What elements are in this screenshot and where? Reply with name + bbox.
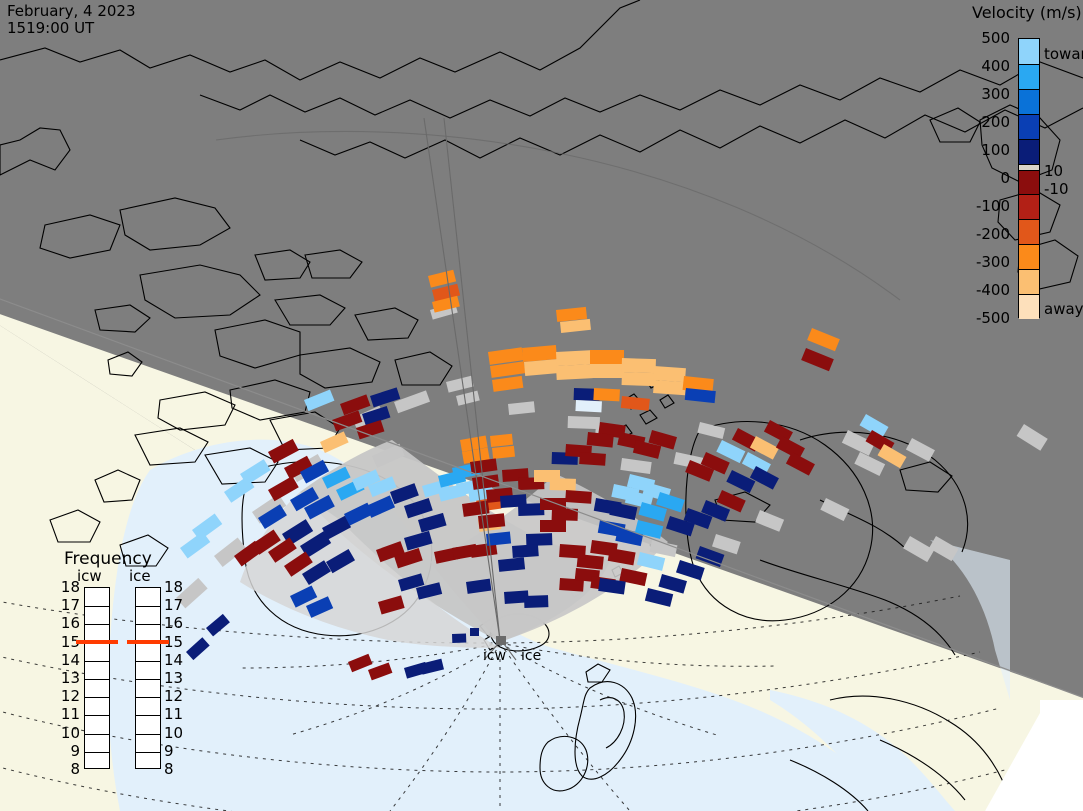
frequency-scale-label: 9 — [164, 742, 188, 760]
frequency-scale-cell — [85, 715, 109, 733]
frequency-scale-cell — [85, 752, 109, 770]
colorbar-tick-label: 300 — [948, 85, 1010, 103]
colorbar-tick-label: 200 — [948, 113, 1010, 131]
colorbar-tick-label: 400 — [948, 57, 1010, 75]
frequency-scale-cell — [85, 606, 109, 624]
colorbar-tick-label: -300 — [948, 253, 1010, 271]
frequency-scale-label: 11 — [164, 705, 188, 723]
frequency-scale-label: 8 — [164, 760, 188, 778]
frequency-scale-label: 16 — [164, 614, 188, 632]
colorbar-away-label: away — [1044, 300, 1083, 318]
frequency-scale-label: 14 — [56, 651, 80, 669]
colorbar-swatch — [1019, 269, 1039, 294]
frequency-scale-label: 8 — [56, 760, 80, 778]
frequency-scale-label: 16 — [56, 614, 80, 632]
colorbar-tick-label: -200 — [948, 225, 1010, 243]
frequency-legend-ice-title: ice — [129, 568, 151, 584]
colorbar-title: Velocity (m/s) — [972, 5, 1082, 21]
frequency-scale-label: 10 — [56, 724, 80, 742]
frequency-scale-label: 18 — [56, 578, 80, 596]
frequency-scale-cell — [85, 643, 109, 661]
frequency-scale-cell — [136, 697, 160, 715]
frequency-scale-cell — [136, 643, 160, 661]
colorbar-swatch — [1019, 139, 1039, 164]
frequency-scale-cell — [136, 752, 160, 770]
timestamp-label: February, 4 2023 1519:00 UT — [7, 3, 136, 37]
colorbar-swatch — [1019, 194, 1039, 219]
colorbar-gs-upper-label: 10 — [1044, 162, 1063, 180]
frequency-scale-cell — [85, 679, 109, 697]
frequency-scale-cell — [136, 679, 160, 697]
frequency-scale-ice[interactable] — [135, 587, 161, 769]
frequency-scale-label: 14 — [164, 651, 188, 669]
colorbar-tick-label: 0 — [948, 169, 1010, 187]
frequency-scale-cell — [85, 588, 109, 606]
colorbar-swatch — [1019, 170, 1039, 195]
frequency-scale-label: 11 — [56, 705, 80, 723]
frequency-scale-icw[interactable] — [84, 587, 110, 769]
frequency-scale-label: 13 — [56, 669, 80, 687]
frequency-scale-label: 17 — [56, 596, 80, 614]
colorbar-tick-label: 500 — [948, 29, 1010, 47]
colorbar-gs-lower-label: -10 — [1044, 180, 1069, 198]
frequency-legend-icw-title: icw — [77, 568, 102, 584]
map-panel[interactable]: February, 4 2023 1519:00 UT icw ice — [0, 0, 1083, 811]
frequency-scale-cell — [85, 697, 109, 715]
frequency-scale-cell — [136, 734, 160, 752]
frequency-scale-label: 18 — [164, 578, 188, 596]
colorbar-swatch — [1019, 64, 1039, 89]
colorbar-swatch — [1019, 294, 1039, 319]
colorbar-toward-label: toward — [1044, 45, 1083, 63]
frequency-scale-label: 13 — [164, 669, 188, 687]
frequency-scale-cell — [136, 606, 160, 624]
frequency-scale-cell — [136, 661, 160, 679]
colorbar-swatch — [1019, 114, 1039, 139]
frequency-scale-cell — [136, 715, 160, 733]
colorbar-swatch — [1019, 219, 1039, 244]
colorbar-tick-label: 100 — [948, 141, 1010, 159]
frequency-scale-label: 17 — [164, 596, 188, 614]
frequency-scale-label: 10 — [164, 724, 188, 742]
frequency-scale-label: 9 — [56, 742, 80, 760]
frequency-scale-cell — [85, 661, 109, 679]
frequency-marker — [127, 640, 169, 644]
colorbar-swatch — [1019, 244, 1039, 269]
station-label-ice: ice — [521, 648, 541, 664]
station-label-icw: icw — [483, 648, 506, 664]
colorbar-tick-label: -400 — [948, 281, 1010, 299]
frequency-marker — [76, 640, 118, 644]
frequency-scale-cell — [136, 588, 160, 606]
frequency-legend-title: Frequency — [64, 551, 152, 567]
colorbar-swatch — [1019, 89, 1039, 114]
colorbar-swatches[interactable] — [1018, 38, 1040, 318]
plot-margin-mask — [0, 0, 1083, 811]
frequency-scale-label: 12 — [56, 687, 80, 705]
colorbar-tick-label: -500 — [948, 309, 1010, 327]
frequency-scale-label: 12 — [164, 687, 188, 705]
fan-plot-figure: February, 4 2023 1519:00 UT icw ice Velo… — [0, 0, 1083, 811]
colorbar-tick-label: -100 — [948, 197, 1010, 215]
frequency-scale-cell — [85, 734, 109, 752]
colorbar-swatch — [1019, 39, 1039, 64]
